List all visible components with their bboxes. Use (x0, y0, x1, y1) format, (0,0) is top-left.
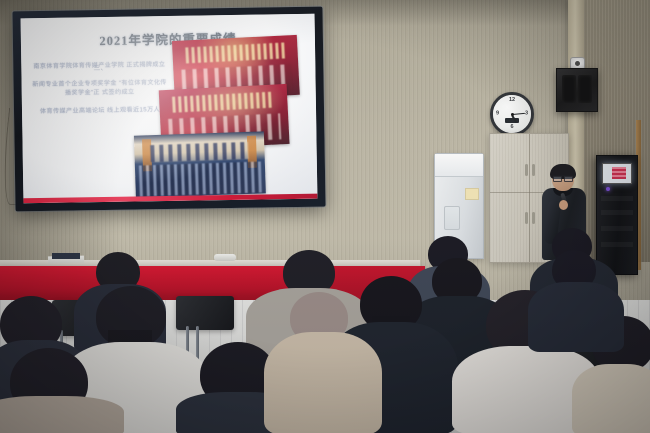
person-torso (572, 364, 650, 433)
slide-body-text: 南京体育学院体育传媒产业学院 正式揭牌成立 新闻专业首个企业专项奖学金 “有位体… (29, 60, 170, 124)
table-device (214, 254, 236, 261)
rack-slot (601, 210, 633, 215)
slide-photo-banner (172, 92, 275, 113)
ac-label-sticker (465, 188, 479, 200)
projection-screen[interactable]: 2021年学院的重要成绩 三、 南京体育学院体育传媒产业学院 正式揭牌成立 新闻… (12, 7, 325, 212)
clock-face: 12 3 6 9 (493, 95, 531, 133)
clock-marker-9: 9 (496, 111, 499, 117)
clock-marker-3: 3 (525, 111, 528, 117)
status-led-icon (606, 187, 610, 191)
slide-footer-stripe (23, 194, 317, 204)
clock-center-pin (511, 113, 514, 116)
slide-photo-banner (185, 43, 286, 64)
person-torso (528, 282, 624, 352)
presentation-slide: 2021年学院的重要成绩 三、 南京体育学院体育传媒产业学院 正式揭牌成立 新闻… (21, 14, 318, 204)
rack-slot (601, 226, 633, 231)
slide-photo-auditorium (134, 131, 266, 197)
speaker-driver (562, 75, 576, 103)
cabinet-door-divider (529, 134, 530, 262)
rack-slot (601, 242, 633, 247)
screenshot-root: 2021年学院的重要成绩 三、 南京体育学院体育传媒产业学院 正式揭牌成立 新闻… (0, 0, 650, 433)
ac-control-panel[interactable] (444, 206, 460, 230)
slide-bullet-1: 南京体育学院体育传媒产业学院 正式揭牌成立 (29, 60, 169, 72)
equipment-rack[interactable] (596, 155, 638, 275)
slide-photo-seats (139, 161, 262, 196)
ac-top-vent (435, 154, 483, 177)
wall-clock: 12 3 6 9 (490, 92, 534, 136)
speaker-driver (578, 75, 592, 103)
slide-bullet-2: 新闻专业首个企业专项奖学金 “有位体育文化传播奖学金”正 式签约成立 (30, 77, 170, 98)
slide-photo-stage (150, 142, 249, 163)
screen-display-area: 2021年学院的重要成绩 三、 南京体育学院体育传媒产业学院 正式揭牌成立 新闻… (21, 14, 318, 204)
slide-bullet-3: 体育传媒产业高端论坛 线上观看近15万人 (30, 104, 170, 116)
chair[interactable] (176, 296, 234, 330)
person-torso (0, 396, 124, 433)
person-torso (264, 332, 382, 433)
clock-minute-hand (512, 113, 525, 115)
glasses-icon (553, 175, 573, 180)
presenter-hand (559, 200, 568, 210)
clock-marker-12: 12 (509, 98, 515, 104)
wall-speaker (556, 68, 598, 112)
cabinet-handle[interactable] (525, 164, 528, 176)
rack-slot (601, 196, 633, 201)
cabinet-handle[interactable] (532, 212, 535, 224)
cabinet-handle[interactable] (525, 212, 528, 224)
clock-marker-6: 6 (510, 125, 513, 131)
table-notebook (52, 253, 80, 259)
cabinet-handle[interactable] (532, 164, 535, 176)
rack-monitor[interactable] (602, 163, 632, 184)
